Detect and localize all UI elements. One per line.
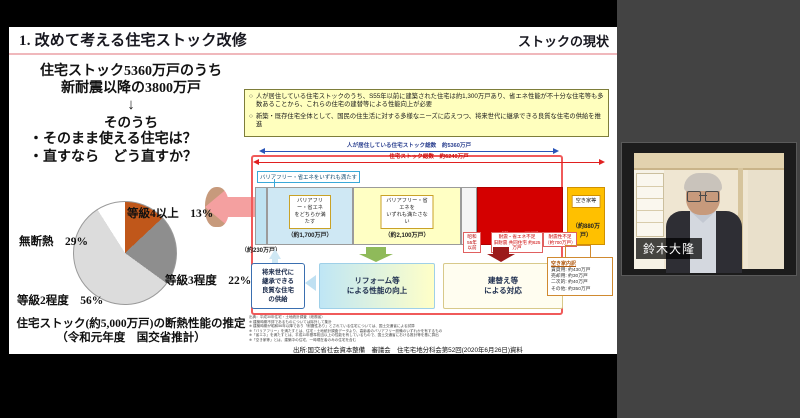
page-title: 1. 改めて考える住宅ストック改修: [19, 29, 247, 50]
bullet-circle-icon: ○: [249, 93, 253, 110]
pie-label-grade4: 等級4以上 13%: [127, 205, 213, 221]
pie-caption: 住宅ストック(約5,000万戸)の断熱性能の推定 （令和元年度 国交省推計）: [15, 317, 247, 345]
bar-segment-either-label: バリアフリー・省エネ をどちらか満たす: [289, 195, 331, 229]
right-wall: [748, 170, 784, 269]
stock-bar-row: バリアフリー・省エネ をどちらか満たす （約1,700万戸） バリアフリー・省エ…: [255, 187, 605, 245]
occupied-stock-axis-label: 人が居住している住宅ストック総数 約5360万戸: [259, 141, 559, 149]
dark-red-down-arrow-icon: [487, 247, 515, 262]
insulation-pie-chart: 等級4以上 13% 等級3程度 22% 等級2程度 56% 無断熱 29% 住宅…: [15, 197, 247, 349]
policy-note-box: ○ 人が居住している住宅ストックのうち、S55年以前に建築された住宅は約1,30…: [244, 89, 609, 137]
up-arrow-icon: [269, 249, 281, 259]
figure-source: 出所:国交省社会資本整備 審議会 住宅宅地分科会第52回(2020年6月26日)…: [293, 345, 523, 354]
green-down-arrow-icon: [359, 247, 393, 262]
footnote: ※「空き家等」とは、建築中の住宅、一時現在者のみの住宅を含む: [249, 338, 529, 343]
total-stock-axis: 住宅ストック総数 約6240万戸: [253, 158, 605, 167]
barrier-free-callout: バリアフリー・省エネをいずれも満たす: [257, 171, 360, 183]
presentation-slide: 1. 改めて考える住宅ストック改修 ストックの現状 住宅ストック5360万戸のう…: [9, 27, 617, 354]
lead-line-4: ・そのまま使える住宅は？: [21, 131, 241, 149]
lead-line-2: 新耐震以降の3800万戸: [21, 80, 241, 97]
bar-segment-neither-qty: （約2,100万戸）: [354, 230, 460, 239]
slide-header: 1. 改めて考える住宅ストック改修 ストックの現状: [9, 27, 617, 55]
bullet-circle-icon: ○: [249, 113, 253, 130]
note-item: ○ 人が居住している住宅ストックのうち、S55年以前に建築された住宅は約1,30…: [249, 93, 604, 110]
lead-line-3: そのうち: [21, 114, 241, 131]
bar-segment-either-qty: （約1,700万戸）: [268, 230, 352, 239]
vacancy-row: その他: 約350万戸: [551, 287, 609, 293]
left-arrow-icon: [305, 275, 316, 291]
meeting-screen: 1. 改めて考える住宅ストック改修 ストックの現状 住宅ストック5360万戸のう…: [0, 0, 800, 418]
pie-caption-line-1: 住宅ストック(約5,000万戸)の断熱性能の推定: [15, 317, 247, 331]
down-arrow-icon: ↓: [21, 98, 241, 113]
slide-subtitle: ストックの現状: [518, 31, 609, 50]
bar-segment-neither: バリアフリー・省エネを いずれも満たさない （約2,100万戸）: [353, 187, 461, 245]
note-item-text: 人が居住している住宅ストックのうち、S55年以前に建築された住宅は約1,300万…: [256, 93, 604, 110]
figure-footnotes: 出典：平成30年住宅・土地統計調査（総務省） ※ 建築時期不詳であるものについて…: [249, 315, 529, 343]
participant-video-tile[interactable]: 鈴木大隆: [621, 142, 797, 276]
vacancy-breakdown-heading: 空き家内訳: [551, 260, 609, 267]
ceiling-beam: [634, 153, 784, 170]
note-item: ○ 新築・既存住宅全体として、国民の住生活に対する多様なニーズに応えつつ、将来世…: [249, 113, 604, 130]
box-rebuild: 建替え等 による対応: [443, 263, 563, 309]
pie-caption-line-2: （令和元年度 国交省推計）: [15, 331, 247, 345]
shoji-screen: [636, 173, 664, 237]
vacancy-breakdown-box: 空き家内訳 賃貸用: 約430万戸 売却用: 約30万戸 二次的: 約40万戸 …: [547, 257, 613, 296]
pie-label-noinsulation: 無断熱 29%: [19, 233, 88, 249]
lead-line-1: 住宅ストック5360万戸のうち: [21, 63, 241, 80]
pie-label-grade3: 等級3程度 22%: [165, 272, 251, 288]
tag-pre1980: 昭和 55年 以前: [463, 232, 481, 253]
box-future-supply: 将来世代に 継承できる 良質な住宅 の供給: [251, 263, 305, 309]
pie-label-grade2: 等級2程度 56%: [17, 292, 103, 308]
bar-segment-both: [255, 187, 267, 245]
housing-stock-figure: 人が居住している住宅ストック総数 約5360万戸 住宅ストック総数 約6240万…: [247, 145, 609, 350]
bar-segment-either: バリアフリー・省エネ をどちらか満たす （約1,700万戸）: [267, 187, 353, 245]
note-item-text: 新築・既存住宅全体として、国民の住生活に対する多様なニーズに応えつつ、将来世代に…: [256, 113, 604, 130]
lead-line-5: ・直すなら どう直すか？: [21, 149, 241, 167]
bar-segment-vacant-label: 空き家等: [572, 195, 601, 208]
bar-segment-neither-label: バリアフリー・省エネを いずれも満たさない: [381, 195, 434, 229]
total-stock-axis-label: 住宅ストック総数 約6240万戸: [253, 152, 605, 160]
shared-screen-region[interactable]: 1. 改めて考える住宅ストック改修 ストックの現状 住宅ストック5360万戸のう…: [0, 0, 617, 418]
lead-text-block: 住宅ストック5360万戸のうち 新耐震以降の3800万戸 ↓ そのうち ・そのま…: [21, 63, 241, 167]
participant-name-label: 鈴木大隆: [636, 238, 702, 259]
box-reform: リフォーム等 による性能の向上: [319, 263, 435, 309]
participant-hair: [684, 173, 722, 191]
glasses-icon: [687, 191, 719, 200]
